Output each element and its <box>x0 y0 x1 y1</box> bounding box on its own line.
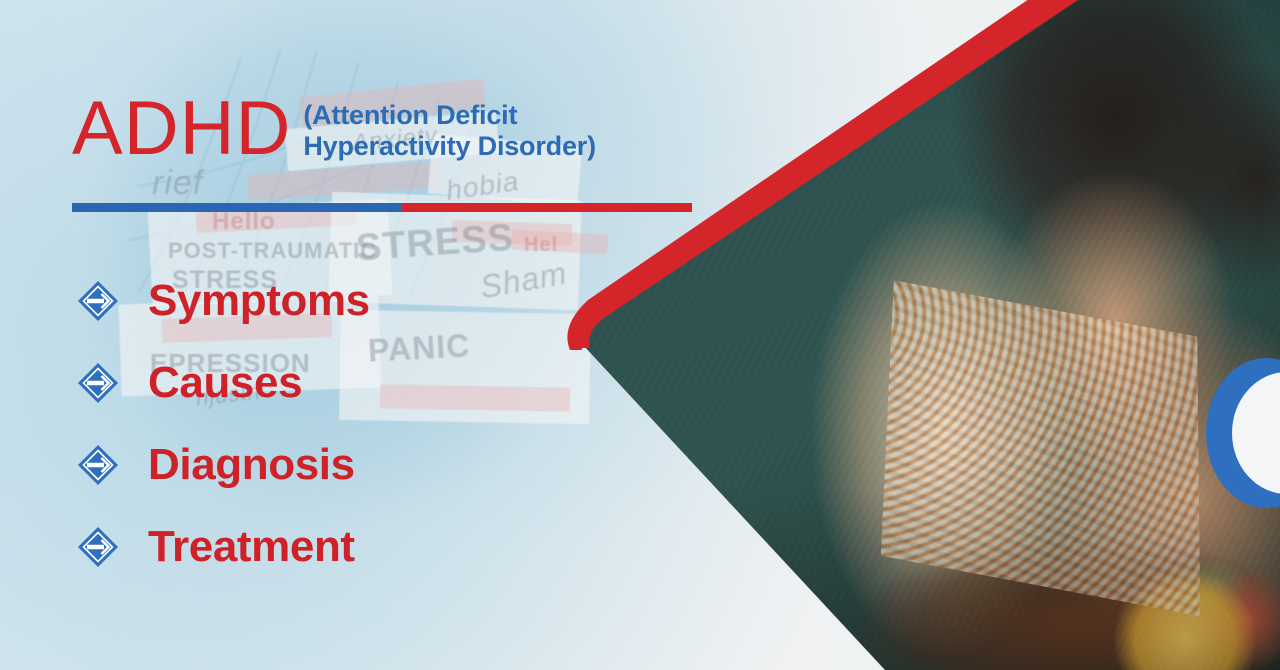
list-item[interactable]: Symptoms <box>76 272 370 330</box>
adhd-banner: rief Hello POST-TRAUMATIC STRESS STRESS … <box>0 0 1280 670</box>
page-title: ADHD (Attention Deficit Hyperactivity Di… <box>72 92 596 166</box>
title-expansion: (Attention Deficit Hyperactivity Disorde… <box>303 100 596 163</box>
list-item-label: Symptoms <box>148 279 370 323</box>
arrow-diamond-icon <box>76 443 120 487</box>
list-item-label: Diagnosis <box>148 443 355 487</box>
arrow-diamond-icon <box>76 279 120 323</box>
topic-list: Symptoms Causes Diagnosis <box>76 272 370 576</box>
list-item[interactable]: Diagnosis <box>76 436 370 494</box>
title-divider <box>72 203 692 212</box>
list-item-label: Causes <box>148 361 302 405</box>
title-expansion-line-1: (Attention Deficit <box>303 100 596 131</box>
list-item-label: Treatment <box>148 525 355 569</box>
title-expansion-line-2: Hyperactivity Disorder) <box>303 131 596 162</box>
arrow-diamond-icon <box>76 525 120 569</box>
list-item[interactable]: Treatment <box>76 518 370 576</box>
title-divider-red-segment <box>402 203 692 212</box>
title-divider-blue-segment <box>72 203 402 212</box>
title-acronym: ADHD <box>72 92 291 166</box>
list-item[interactable]: Causes <box>76 354 370 412</box>
arrow-diamond-icon <box>76 361 120 405</box>
